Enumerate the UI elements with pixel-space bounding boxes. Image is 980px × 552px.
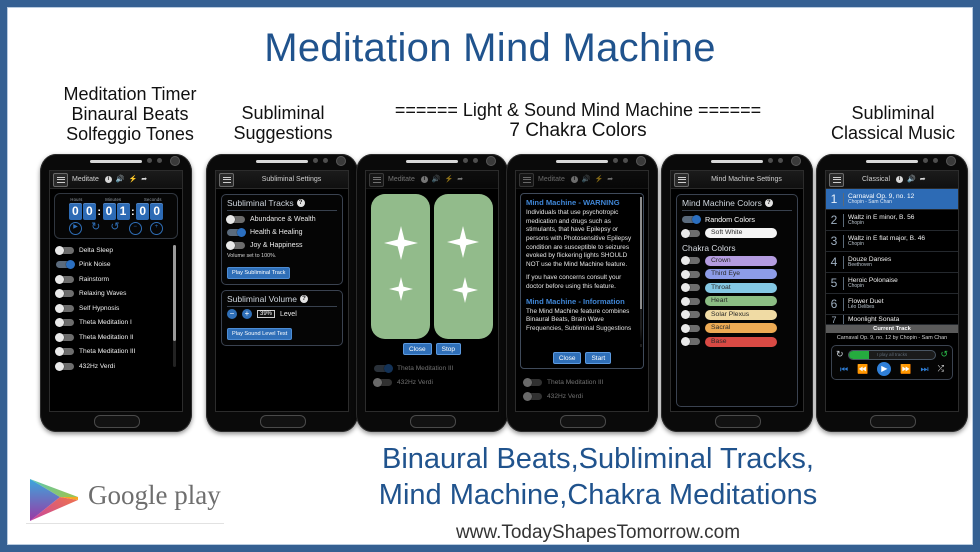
front-camera-icon: [336, 156, 346, 166]
play-sound-level-test-button[interactable]: Play Sound Level Test: [227, 328, 292, 340]
table-row[interactable]: 1 Carnaval Op. 9, no. 12Chopin - Sam Cha…: [826, 189, 958, 210]
card-heading: Mind Machine Colors ?: [682, 198, 792, 211]
flash-icon[interactable]: ⚡: [595, 176, 604, 183]
list-item[interactable]: Crown: [682, 254, 792, 268]
toggle-switch[interactable]: [227, 229, 245, 236]
table-row[interactable]: 6 Flower DuetLéo Delibes: [826, 294, 958, 315]
minus-icon[interactable]: −: [129, 222, 142, 235]
google-play-badge[interactable]: Google play: [26, 476, 226, 526]
list-item[interactable]: Pink Noise: [56, 258, 178, 273]
list-item[interactable]: Abundance & Wealth: [227, 213, 337, 226]
timer-labels: Hours Minutes Seconds: [59, 197, 173, 202]
share-icon[interactable]: ➦: [607, 176, 613, 183]
color-pill-third-eye[interactable]: Third Eye: [705, 269, 777, 279]
colon: :: [97, 206, 102, 218]
toggle-switch[interactable]: [374, 365, 392, 372]
appbar-icons: i 🔊 ⚡ ➦: [571, 176, 613, 183]
scrollbar[interactable]: [173, 245, 176, 367]
background-track-list: Theta Meditation III 432Hz Verdi: [366, 361, 498, 389]
loop-icon[interactable]: ↻: [836, 349, 844, 360]
level-label: Level: [280, 311, 297, 318]
info-icon[interactable]: i: [571, 176, 578, 183]
phone2-appbar: Subliminal Settings: [216, 171, 348, 189]
digit[interactable]: 0: [83, 203, 96, 220]
help-icon[interactable]: ?: [765, 199, 773, 207]
home-button[interactable]: [560, 415, 606, 428]
digit[interactable]: 0: [103, 203, 116, 220]
toggle-switch[interactable]: [227, 216, 245, 223]
sparkle-icon: [384, 226, 418, 260]
google-play-label: Google play: [88, 480, 221, 511]
list-item[interactable]: Heart: [682, 295, 792, 309]
toggle-switch[interactable]: [56, 334, 74, 341]
list-item[interactable]: Theta Meditation III: [56, 345, 178, 360]
chakra-colors-label: Chakra Colors: [682, 243, 792, 253]
phone1-track-list: Delta Sleep Pink Noise Rainstorm Relaxin…: [56, 243, 178, 374]
earpiece-speaker: [90, 160, 142, 163]
menu-icon[interactable]: [219, 173, 234, 187]
player-controls: ⏮ ⏪ ▶ ⏩ ⏭ ⤮: [836, 360, 948, 376]
appbar-title: Subliminal Settings: [262, 176, 322, 183]
light-panel-left[interactable]: [371, 194, 430, 339]
table-row[interactable]: 2 Waltz in E minor, B. 56Chopin: [826, 210, 958, 231]
color-pill-sacral[interactable]: Sacral: [705, 323, 777, 333]
timer-digits[interactable]: 0 0 : 0 1 : 0 0: [59, 203, 173, 220]
list-item[interactable]: Health & Healing: [227, 226, 337, 239]
repeat-icon[interactable]: ↺: [940, 349, 948, 360]
poster-canvas: Meditation Mind Machine Meditation Timer…: [7, 7, 973, 545]
earpiece-speaker: [866, 160, 918, 163]
stop-button[interactable]: Stop: [436, 343, 461, 355]
phone-classical-music: Classical i 🔊 ➦ 1 Carnaval Op. 9, no. 12…: [816, 154, 968, 432]
play-icon[interactable]: ▶: [69, 222, 82, 235]
menu-icon[interactable]: [829, 173, 844, 187]
sensor-icon: [768, 158, 773, 163]
volume-hint: Volume set to 100%.: [227, 253, 337, 259]
colon: :: [131, 206, 136, 218]
menu-icon[interactable]: [53, 173, 68, 187]
shuffle-icon[interactable]: ⤮: [938, 364, 944, 374]
list-item[interactable]: Theta Meditation III: [524, 375, 640, 389]
mind-machine-colors-card: Mind Machine Colors ? Random Colors Soft…: [676, 194, 798, 407]
toggle-switch[interactable]: [56, 348, 74, 355]
front-camera-icon: [170, 156, 180, 166]
dialog-heading-information: Mind Machine - Information: [526, 297, 638, 306]
table-row[interactable]: 3 Waltz in E flat major, B. 46Chopin: [826, 231, 958, 252]
list-item[interactable]: Third Eye: [682, 268, 792, 282]
phone-mind-machine-warning: Meditate i 🔊 ⚡ ➦ Mind Machine - WARNING …: [506, 154, 658, 432]
color-pill-base[interactable]: Base: [705, 337, 777, 347]
toggle-switch[interactable]: [56, 247, 74, 254]
help-icon[interactable]: ?: [297, 199, 305, 207]
share-icon[interactable]: ➦: [920, 176, 926, 183]
list-item[interactable]: Delta Sleep: [56, 243, 178, 258]
flash-icon[interactable]: ⚡: [129, 176, 138, 183]
plus-icon[interactable]: +: [242, 309, 252, 319]
card-heading: Subliminal Tracks ?: [227, 198, 337, 211]
home-button[interactable]: [94, 415, 140, 428]
fast-forward-icon[interactable]: ⏩: [900, 364, 911, 375]
info-icon[interactable]: i: [896, 176, 903, 183]
list-item[interactable]: Soft White: [682, 227, 792, 241]
toggle-switch[interactable]: [524, 393, 542, 400]
flash-icon[interactable]: ⚡: [445, 176, 454, 183]
timer-panel: Hours Minutes Seconds 0 0 : 0 1 : 0 0 ▶ …: [54, 193, 178, 239]
dialog-buttons: Close Start: [521, 352, 643, 364]
timer-buttons: ▶ ↻ ↺ − +: [59, 222, 173, 235]
skip-forward-icon[interactable]: ⏭: [920, 364, 928, 375]
table-row[interactable]: 4 Douze DansesBeethoven: [826, 252, 958, 273]
phone2-screen: Subliminal Settings Subliminal Tracks ? …: [215, 170, 349, 412]
caption-meditation-timer: Meditation Timer Binaural Beats Solfeggi…: [32, 84, 228, 144]
front-camera-icon: [791, 156, 801, 166]
toggle-switch[interactable]: [682, 311, 700, 318]
toggle-switch[interactable]: [227, 242, 245, 249]
volume-stepper: − + 39% Level: [227, 309, 337, 319]
color-pill-crown[interactable]: Crown: [705, 256, 777, 266]
color-pill-solar-plexus[interactable]: Solar Plexus: [705, 310, 777, 320]
menu-icon[interactable]: [674, 173, 689, 187]
close-button[interactable]: Close: [553, 352, 582, 364]
phone3-screen: Meditate i 🔊 ⚡ ➦ Close: [365, 170, 499, 412]
home-button[interactable]: [260, 415, 306, 428]
list-item[interactable]: Theta Meditation III: [374, 361, 490, 375]
player-seek-row: ↻ I play all tracks ↺: [836, 349, 948, 360]
phone1-screen: Meditate i 🔊 ⚡ ➦ Hours Minutes Seconds 0…: [49, 170, 183, 412]
share-icon[interactable]: ➦: [141, 176, 147, 183]
list-item[interactable]: Theta Meditation II: [56, 330, 178, 345]
sensor-icon: [323, 158, 328, 163]
subliminal-tracks-card: Subliminal Tracks ? Abundance & Wealth H…: [221, 194, 343, 285]
sensor-icon: [923, 158, 928, 163]
current-track-title: Carnaval Op. 9, no. 12 by Chopin - Sam C…: [826, 333, 958, 343]
sensor-icon: [933, 158, 938, 163]
color-pill-soft-white[interactable]: Soft White: [705, 228, 777, 238]
caption-subliminal: Subliminal Suggestions: [213, 103, 353, 143]
phone6-screen: Classical i 🔊 ➦ 1 Carnaval Op. 9, no. 12…: [825, 170, 959, 412]
list-item[interactable]: 432Hz Verdi: [524, 389, 640, 403]
appbar-title: Classical: [862, 176, 890, 183]
list-item[interactable]: Relaxing Waves: [56, 287, 178, 302]
home-button[interactable]: [870, 415, 916, 428]
page-title: Meditation Mind Machine: [8, 26, 972, 71]
list-item[interactable]: Solar Plexus: [682, 308, 792, 322]
phone-meditation-timer: Meditate i 🔊 ⚡ ➦ Hours Minutes Seconds 0…: [40, 154, 192, 432]
volume-icon[interactable]: 🔊: [907, 176, 916, 183]
toggle-switch[interactable]: [56, 319, 74, 326]
earpiece-speaker: [711, 160, 763, 163]
website-url: www.TodayShapesTomorrow.com: [228, 522, 968, 544]
phone-light-panels: Meditate i 🔊 ⚡ ➦ Close: [356, 154, 508, 432]
share-icon[interactable]: ➦: [457, 176, 463, 183]
media-player: ↻ I play all tracks ↺ ⏮ ⏪ ▶ ⏩ ⏭ ⤮: [831, 345, 953, 380]
dialog-heading-warning: Mind Machine - WARNING: [526, 198, 638, 207]
volume-icon[interactable]: 🔊: [432, 176, 441, 183]
appbar-icons: i 🔊 ➦: [896, 176, 926, 183]
sensor-icon: [313, 158, 318, 163]
close-button[interactable]: Close: [403, 343, 432, 355]
toggle-switch[interactable]: [56, 261, 74, 268]
phone3-appbar: Meditate i 🔊 ⚡ ➦: [366, 171, 498, 189]
subliminal-volume-card: Subliminal Volume ? − + 39% Level Play S…: [221, 290, 343, 346]
volume-icon[interactable]: 🔊: [582, 176, 591, 183]
sensor-icon: [778, 158, 783, 163]
list-item[interactable]: Random Colors: [682, 213, 792, 227]
phone6-appbar: Classical i 🔊 ➦: [826, 171, 958, 189]
appbar-title: Meditate: [72, 176, 99, 183]
list-item[interactable]: Sacral: [682, 322, 792, 336]
phone-subliminal-settings: Subliminal Settings Subliminal Tracks ? …: [206, 154, 358, 432]
list-item[interactable]: 432Hz Verdi: [56, 359, 178, 374]
phone4-screen: Meditate i 🔊 ⚡ ➦ Mind Machine - WARNING …: [515, 170, 649, 412]
list-item[interactable]: Theta Meditation I: [56, 316, 178, 331]
sparkle-icon: [389, 277, 413, 301]
phone4-appbar: Meditate i 🔊 ⚡ ➦: [516, 171, 648, 189]
dialog-scrollbar[interactable]: [640, 197, 642, 347]
color-pill-throat[interactable]: Throat: [705, 283, 777, 293]
sparkle-icon: [447, 226, 479, 258]
current-track-header: Current Track: [826, 325, 958, 333]
history-icon[interactable]: ↺: [109, 222, 120, 233]
toggle-switch[interactable]: [682, 284, 700, 291]
start-button[interactable]: Start: [585, 352, 611, 364]
sensor-icon: [473, 158, 478, 163]
dialog-body-warning: Individuals that use psychotropic medica…: [526, 209, 638, 269]
list-item[interactable]: 432Hz Verdi: [374, 375, 490, 389]
toggle-switch[interactable]: [682, 216, 700, 223]
digit[interactable]: 1: [117, 203, 130, 220]
toggle-switch[interactable]: [682, 257, 700, 264]
list-item[interactable]: Throat: [682, 281, 792, 295]
earpiece-speaker: [556, 160, 608, 163]
front-camera-icon: [636, 156, 646, 166]
minus-icon[interactable]: −: [227, 309, 237, 319]
toggle-switch[interactable]: [682, 298, 700, 305]
list-item[interactable]: Self Hypnosis: [56, 301, 178, 316]
digit[interactable]: 0: [136, 203, 149, 220]
fade-overlay: [521, 328, 643, 344]
appbar-icons: i 🔊 ⚡ ➦: [421, 176, 463, 183]
toggle-switch[interactable]: [56, 276, 74, 283]
light-panel-buttons: Close Stop: [366, 343, 498, 355]
seek-bar[interactable]: I play all tracks: [848, 350, 937, 360]
menu-icon[interactable]: [369, 173, 384, 187]
help-icon[interactable]: ?: [300, 295, 308, 303]
front-camera-icon: [946, 156, 956, 166]
appbar-title: Mind Machine Settings: [711, 176, 782, 183]
appbar-title: Meditate: [538, 176, 565, 183]
toggle-switch[interactable]: [374, 379, 392, 386]
list-item[interactable]: Base: [682, 335, 792, 349]
toggle-switch[interactable]: [682, 338, 700, 345]
reset-icon[interactable]: ↻: [90, 222, 101, 233]
background-track-list: Theta Meditation III 432Hz Verdi: [516, 375, 648, 403]
list-item[interactable]: Rainstorm: [56, 272, 178, 287]
warning-dialog: Mind Machine - WARNING Individuals that …: [520, 193, 644, 369]
plus-icon[interactable]: +: [150, 222, 163, 235]
appbar-icons: i 🔊 ⚡ ➦: [105, 176, 147, 183]
toggle-switch[interactable]: [682, 230, 700, 237]
play-icon[interactable]: ▶: [877, 362, 891, 376]
sensor-icon: [147, 158, 152, 163]
toggle-switch[interactable]: [56, 363, 74, 370]
info-icon[interactable]: i: [105, 176, 112, 183]
menu-icon[interactable]: [519, 173, 534, 187]
skip-back-icon[interactable]: ⏮: [840, 364, 848, 375]
digit[interactable]: 0: [69, 203, 82, 220]
tagline: Binaural Beats,Subliminal Tracks, Mind M…: [228, 442, 968, 514]
digit[interactable]: 0: [150, 203, 163, 220]
home-button[interactable]: [715, 415, 761, 428]
light-panel-right[interactable]: [434, 194, 493, 339]
sensor-icon: [613, 158, 618, 163]
color-pill-heart[interactable]: Heart: [705, 296, 777, 306]
caption-classical: Subliminal Classical Music: [808, 103, 973, 143]
play-subliminal-track-button[interactable]: Play Subliminal Track: [227, 267, 290, 279]
divider: [26, 523, 224, 524]
poster-root: Meditation Mind Machine Meditation Timer…: [0, 0, 980, 552]
toggle-switch[interactable]: [56, 290, 74, 297]
toggle-switch[interactable]: [682, 325, 700, 332]
rewind-icon[interactable]: ⏪: [857, 364, 868, 375]
google-play-icon: [26, 476, 82, 524]
sensor-icon: [623, 158, 628, 163]
phone-mind-machine-settings: Mind Machine Settings Mind Machine Color…: [661, 154, 813, 432]
phone1-appbar: Meditate i 🔊 ⚡ ➦: [50, 171, 182, 189]
phone5-appbar: Mind Machine Settings: [671, 171, 803, 189]
front-camera-icon: [486, 156, 496, 166]
toggle-switch[interactable]: [56, 305, 74, 312]
volume-icon[interactable]: 🔊: [116, 176, 125, 183]
dialog-body-consult: If you have concerns consult your doctor…: [526, 274, 638, 291]
volume-percent: 39%: [257, 310, 275, 318]
info-icon[interactable]: i: [421, 176, 428, 183]
list-item[interactable]: Joy & Happiness: [227, 239, 337, 252]
toggle-switch[interactable]: [524, 379, 542, 386]
table-row[interactable]: 7 Moonlight Sonata: [826, 315, 958, 325]
earpiece-speaker: [256, 160, 308, 163]
light-panel-area[interactable]: [366, 189, 498, 339]
phone5-screen: Mind Machine Settings Mind Machine Color…: [670, 170, 804, 412]
card-heading: Subliminal Volume ?: [227, 294, 337, 307]
toggle-switch[interactable]: [682, 271, 700, 278]
caption-light-sound: ====== Light & Sound Mind Machine ======…: [363, 100, 793, 141]
sparkle-icon: [452, 277, 478, 303]
earpiece-speaker: [406, 160, 458, 163]
sensor-icon: [463, 158, 468, 163]
sensor-icon: [157, 158, 162, 163]
classical-track-list: 1 Carnaval Op. 9, no. 12Chopin - Sam Cha…: [826, 189, 958, 325]
appbar-title: Meditate: [388, 176, 415, 183]
home-button[interactable]: [410, 415, 456, 428]
table-row[interactable]: 5 Heroic PolonaiseChopin: [826, 273, 958, 294]
